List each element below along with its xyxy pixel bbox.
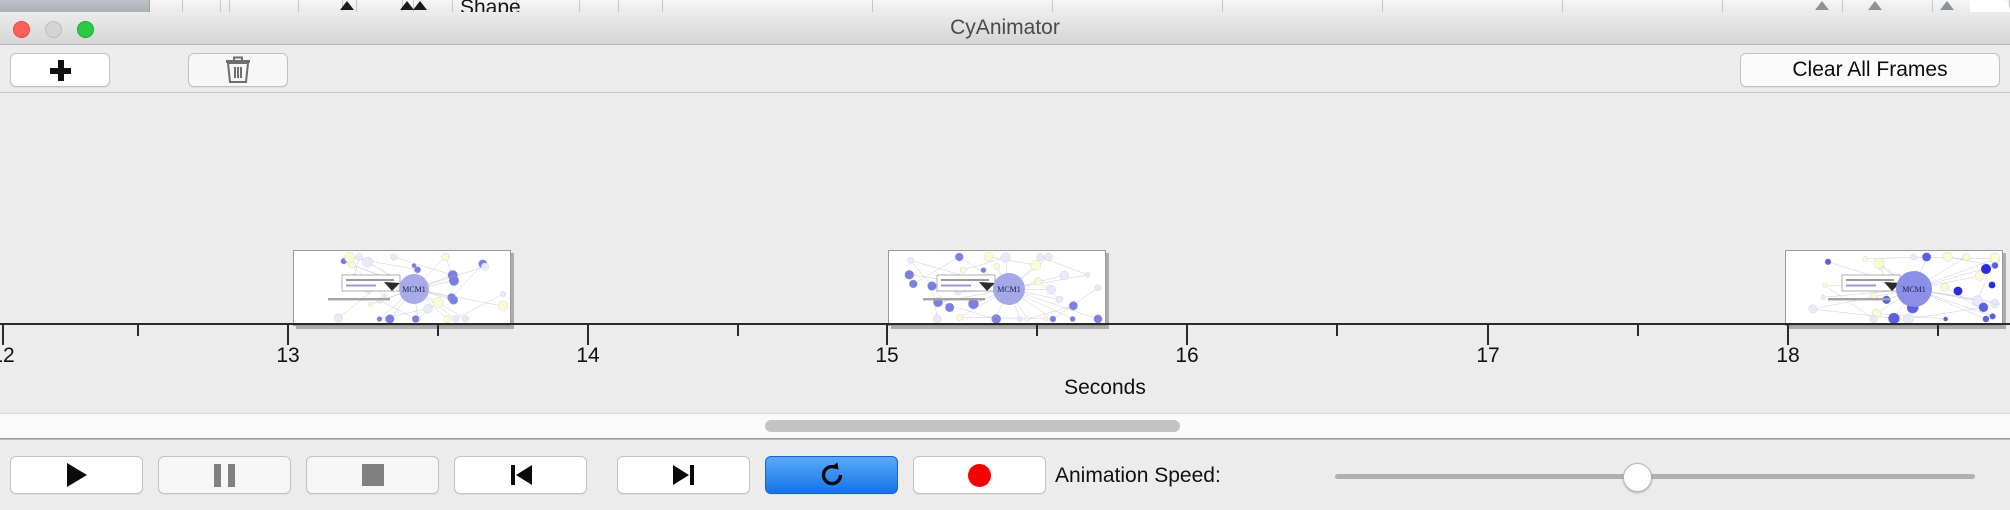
pause-icon — [214, 464, 235, 487]
timeline-tick-label: 15 — [875, 344, 898, 368]
timeline-major-tick — [587, 325, 589, 345]
timeline-minor-tick — [1036, 325, 1038, 336]
animation-speed-slider-track[interactable] — [1335, 474, 1975, 479]
skip-forward-icon — [671, 463, 697, 487]
clear-all-frames-label: Clear All Frames — [1792, 58, 1947, 82]
loop-button[interactable] — [765, 456, 898, 494]
record-button[interactable] — [913, 456, 1046, 494]
sort-arrow-icon — [413, 1, 427, 10]
timeline-minor-tick — [737, 325, 739, 336]
sort-arrow-icon — [1940, 1, 1954, 10]
next-frame-button[interactable] — [617, 456, 750, 494]
cyanimator-window: CyAnimator Clear All Frames MCM1MCM1MCM1… — [0, 12, 2010, 510]
timeline-tick-label: 14 — [576, 344, 599, 368]
timeline-minor-tick — [137, 325, 139, 336]
frame-thumbnail[interactable]: MCM1 — [293, 250, 511, 326]
timeline-tick-label: 13 — [276, 344, 299, 368]
toolbar: Clear All Frames — [0, 45, 2010, 93]
sort-arrow-icon — [340, 1, 354, 10]
prev-frame-button[interactable] — [454, 456, 587, 494]
timeline-tick-label: 18 — [1776, 344, 1799, 368]
skip-back-icon — [508, 463, 534, 487]
timeline-axis-title: Seconds — [0, 376, 2010, 400]
timeline-panel[interactable]: MCM1MCM1MCM1 12131415161718 Seconds — [0, 93, 2010, 413]
timeline-major-tick — [1186, 325, 1188, 345]
timeline-tick-label: 12 — [0, 344, 15, 368]
loop-icon — [818, 461, 846, 489]
svg-text:MCM1: MCM1 — [402, 285, 426, 294]
stop-button[interactable] — [306, 456, 439, 494]
timeline-minor-tick — [437, 325, 439, 336]
delete-frame-button[interactable] — [188, 53, 288, 87]
playback-controls: Animation Speed: — [0, 439, 2010, 510]
sort-arrow-icon — [1868, 1, 1882, 10]
trash-icon — [225, 56, 251, 84]
timeline-major-tick — [1487, 325, 1489, 345]
svg-text:MCM1: MCM1 — [997, 285, 1021, 294]
sort-arrow-icon — [400, 1, 414, 10]
timeline-minor-tick — [1937, 325, 1939, 336]
pause-button[interactable] — [158, 456, 291, 494]
clear-all-frames-button[interactable]: Clear All Frames — [1740, 53, 2000, 87]
animation-speed-label: Animation Speed: — [1055, 464, 1221, 488]
add-frame-button[interactable] — [10, 53, 110, 87]
timeline-major-tick — [2, 325, 4, 345]
title-bar[interactable]: CyAnimator — [0, 12, 2010, 45]
frame-thumbnail[interactable]: MCM1 — [888, 250, 1106, 326]
timeline-minor-tick — [1336, 325, 1338, 336]
timeline-tick-label: 17 — [1476, 344, 1499, 368]
window-title: CyAnimator — [0, 12, 2010, 44]
animation-speed-slider-thumb[interactable] — [1623, 463, 1652, 492]
frame-thumbnail[interactable]: MCM1 — [1785, 250, 2003, 326]
timeline-major-tick — [886, 325, 888, 345]
sort-arrow-icon — [1815, 1, 1829, 10]
timeline-tick-label: 16 — [1175, 344, 1198, 368]
timeline-axis-line — [0, 323, 2010, 325]
timeline-major-tick — [1787, 325, 1789, 345]
timeline-scrollbar-thumb[interactable] — [765, 420, 1180, 432]
stop-icon — [362, 464, 384, 486]
record-icon — [968, 464, 991, 487]
play-button[interactable] — [10, 456, 143, 494]
play-icon — [67, 463, 87, 487]
plus-icon — [50, 60, 71, 81]
timeline-minor-tick — [1637, 325, 1639, 336]
timeline-major-tick — [287, 325, 289, 345]
timeline-scrollbar[interactable] — [0, 413, 2010, 439]
svg-text:MCM1: MCM1 — [1902, 285, 1926, 294]
